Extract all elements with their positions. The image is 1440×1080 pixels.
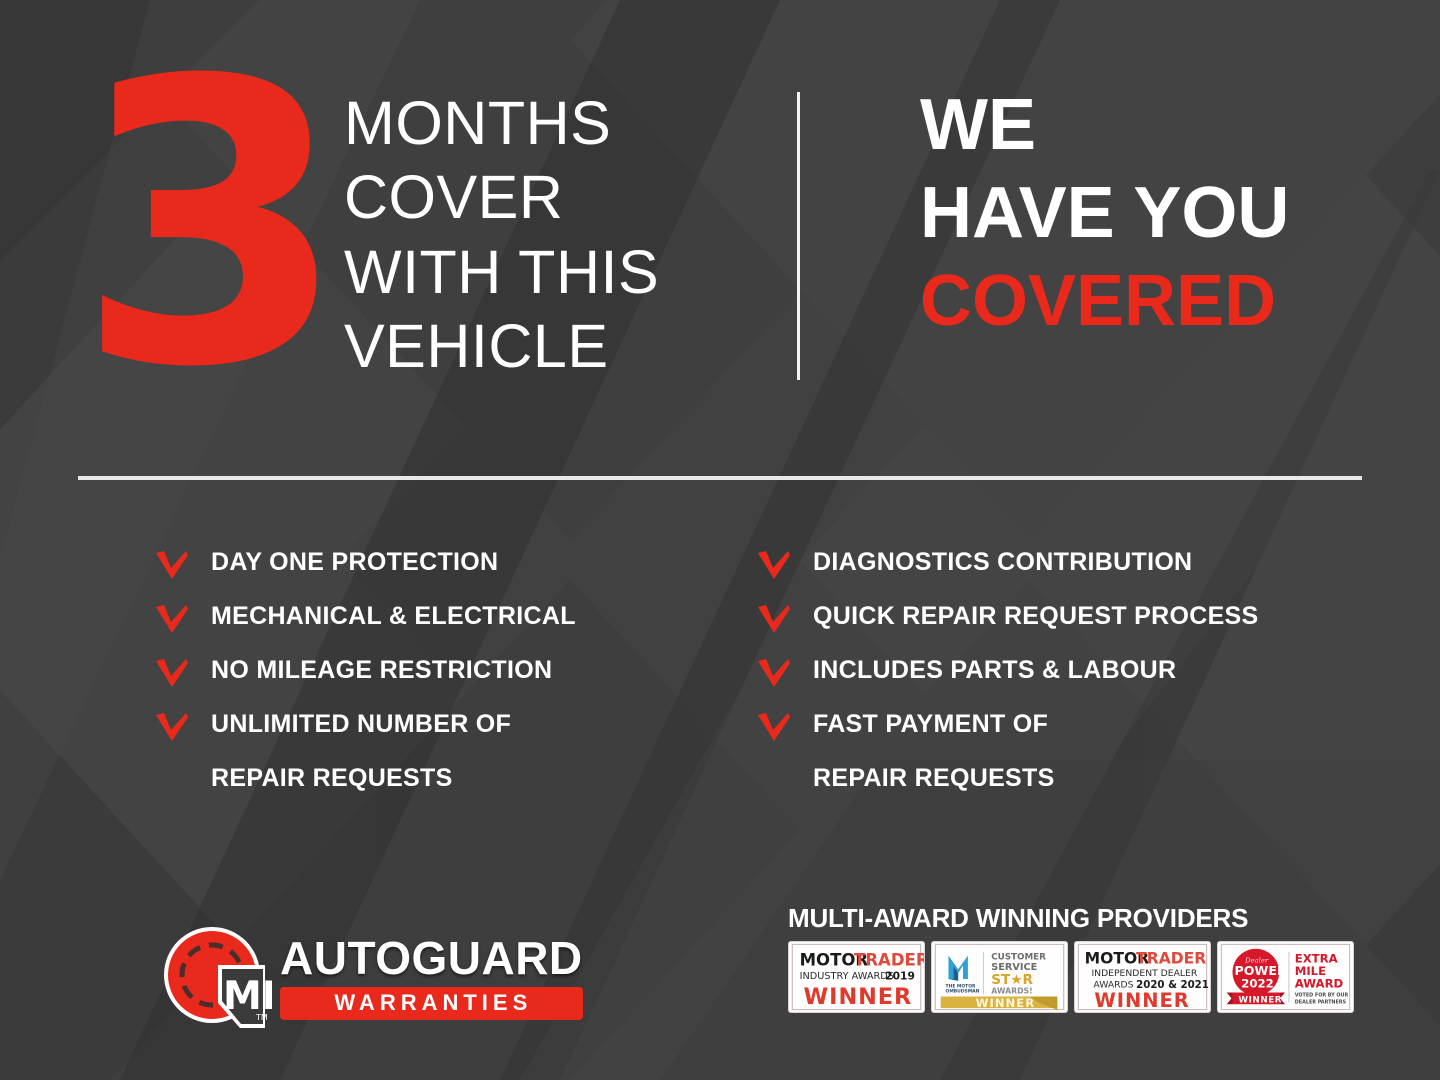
tagline-line-3: COVERED bbox=[920, 258, 1390, 346]
headline-section: 3 MONTHS COVER WITH THIS VEHICLE WE HAVE… bbox=[0, 0, 1440, 470]
award-badge-motor-trader-industry-2019: MOTOR TRADER INDUSTRY AWARDS 2019 WINNER bbox=[788, 941, 925, 1013]
check-icon bbox=[757, 604, 791, 634]
check-icon bbox=[155, 658, 189, 688]
award-badge-independent-dealer-2020-2021: MOTOR TRADER INDEPENDENT DEALER AWARDS 2… bbox=[1074, 941, 1211, 1013]
mbi-trademark: TM bbox=[255, 1013, 268, 1022]
check-icon bbox=[155, 550, 189, 580]
badge3-trader: TRADER bbox=[1136, 949, 1206, 967]
mbi-badge-icon: MBi TM bbox=[160, 925, 272, 1030]
check-icon bbox=[757, 658, 791, 688]
autoguard-wordmark: AUTOGUARD WARRANTIES bbox=[280, 935, 583, 1020]
horizontal-divider bbox=[78, 476, 1362, 480]
vertical-divider bbox=[797, 92, 800, 380]
features-left-column: DAY ONE PROTECTION MECHANICAL & ELECTRIC… bbox=[155, 548, 755, 818]
awards-title: MULTI-AWARD WINNING PROVIDERS bbox=[788, 905, 1368, 931]
tagline-line-1: WE bbox=[920, 82, 1390, 170]
brand-name: AUTOGUARD bbox=[280, 935, 583, 981]
list-item: INCLUDES PARTS & LABOUR bbox=[757, 656, 1377, 694]
badge2-line3: ST★R bbox=[991, 972, 1033, 988]
headline-line-4: VEHICLE bbox=[344, 309, 764, 383]
list-item-label: DAY ONE PROTECTION bbox=[211, 548, 498, 576]
badge1-year: 2019 bbox=[885, 969, 915, 982]
headline-line-3: WITH THIS bbox=[344, 235, 764, 309]
award-badges-row: MOTOR TRADER INDUSTRY AWARDS 2019 WINNER… bbox=[788, 941, 1368, 1013]
badge1-result: WINNER bbox=[804, 984, 913, 1010]
awards-section: MULTI-AWARD WINNING PROVIDERS MOTOR TRAD… bbox=[788, 905, 1368, 1013]
list-item: DAY ONE PROTECTION bbox=[155, 548, 755, 586]
check-icon bbox=[757, 712, 791, 742]
list-item-label: FAST PAYMENT OF bbox=[813, 710, 1048, 738]
badge4-result: WINNER bbox=[1238, 995, 1282, 1005]
badge4-line3: AWARD bbox=[1295, 977, 1344, 991]
badge1-subtitle: INDUSTRY AWARDS bbox=[800, 971, 894, 982]
brand-tagline: WARRANTIES bbox=[280, 987, 583, 1020]
list-item: UNLIMITED NUMBER OF bbox=[155, 710, 755, 748]
list-item-label: QUICK REPAIR REQUEST PROCESS bbox=[813, 602, 1259, 630]
list-item-continuation: REPAIR REQUESTS bbox=[155, 764, 755, 802]
cover-duration-number: 3 bbox=[76, 46, 326, 405]
list-item-label: REPAIR REQUESTS bbox=[813, 764, 1055, 792]
award-badge-customer-service-star: THE MOTOR OMBUDSMAN CUSTOMER SERVICE ST★… bbox=[931, 941, 1068, 1013]
list-item-label: NO MILEAGE RESTRICTION bbox=[211, 656, 552, 684]
list-item-label: MECHANICAL & ELECTRICAL bbox=[211, 602, 576, 630]
headline-line-1: MONTHS bbox=[344, 86, 764, 160]
headline-right-lines: WE HAVE YOU COVERED bbox=[920, 82, 1390, 345]
badge1-trader: TRADER bbox=[854, 950, 924, 969]
badge2-mark-caption-2: OMBUDSMAN bbox=[946, 989, 980, 995]
badge3-subtitle: INDEPENDENT DEALER bbox=[1091, 968, 1197, 979]
badge2-line1: CUSTOMER bbox=[991, 953, 1046, 963]
headline-left-lines: MONTHS COVER WITH THIS VEHICLE bbox=[344, 86, 764, 384]
check-icon-placeholder bbox=[155, 766, 189, 796]
autoguard-logo: MBi TM AUTOGUARD WARRANTIES bbox=[160, 925, 583, 1030]
list-item: NO MILEAGE RESTRICTION bbox=[155, 656, 755, 694]
check-icon bbox=[155, 712, 189, 742]
badge4-seal-year: 2022 bbox=[1241, 977, 1273, 991]
tagline-line-2: HAVE YOU bbox=[920, 170, 1390, 258]
list-item-continuation: REPAIR REQUESTS bbox=[757, 764, 1377, 802]
badge4-sub2: DEALER PARTNERS bbox=[1295, 999, 1347, 1005]
award-badge-dealer-power-extra-mile: Dealer POWER 2022 WINNER EXTRA MILE AWAR… bbox=[1217, 941, 1354, 1013]
list-item: MECHANICAL & ELECTRICAL bbox=[155, 602, 755, 640]
list-item: FAST PAYMENT OF bbox=[757, 710, 1377, 748]
list-item-label: UNLIMITED NUMBER OF bbox=[211, 710, 511, 738]
list-item-label: DIAGNOSTICS CONTRIBUTION bbox=[813, 548, 1192, 576]
badge2-result: WINNER bbox=[976, 996, 1035, 1010]
badge2-line4: AWARDS! bbox=[991, 987, 1032, 996]
list-item: QUICK REPAIR REQUEST PROCESS bbox=[757, 602, 1377, 640]
badge4-sub1: VOTED FOR BY OUR bbox=[1295, 992, 1349, 998]
check-icon-placeholder bbox=[757, 766, 791, 796]
list-item-label: INCLUDES PARTS & LABOUR bbox=[813, 656, 1176, 684]
features-right-column: DIAGNOSTICS CONTRIBUTION QUICK REPAIR RE… bbox=[757, 548, 1377, 818]
list-item-label: REPAIR REQUESTS bbox=[211, 764, 453, 792]
badge3-result: WINNER bbox=[1094, 989, 1189, 1012]
check-icon bbox=[155, 604, 189, 634]
check-icon bbox=[757, 550, 791, 580]
headline-line-2: COVER bbox=[344, 160, 764, 234]
list-item: DIAGNOSTICS CONTRIBUTION bbox=[757, 548, 1377, 586]
